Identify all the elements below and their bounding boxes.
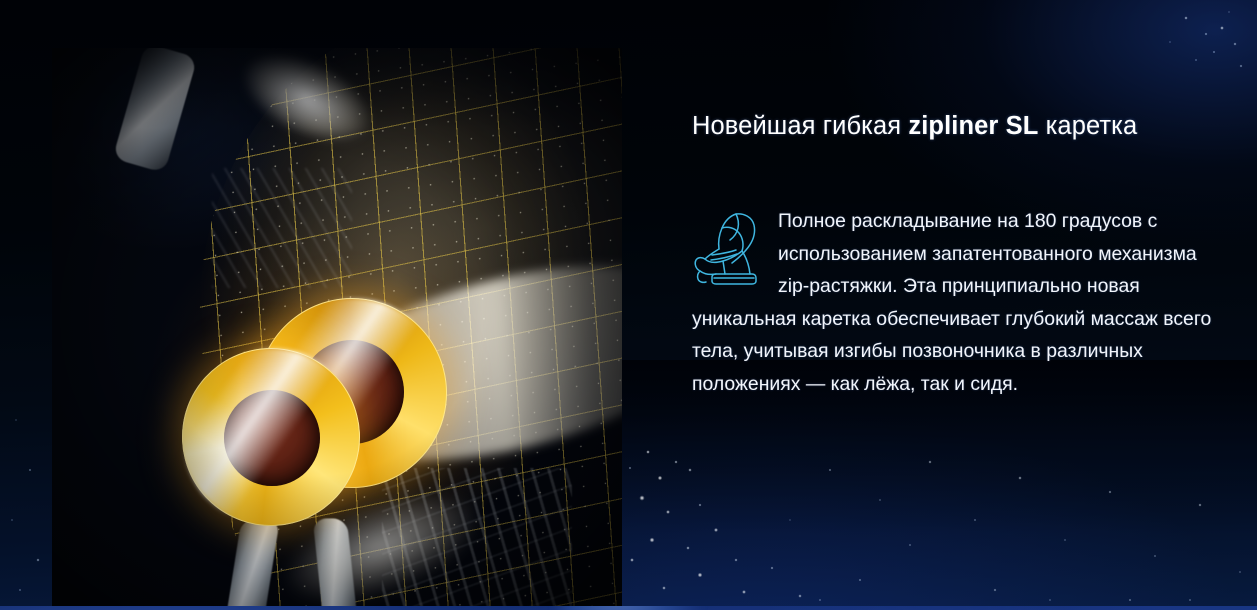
mechanism-detail-upper xyxy=(212,168,352,288)
headline-brand: zipliner SL xyxy=(908,112,1038,140)
headline-prefix: Новейшая гибкая xyxy=(692,112,908,140)
headline-suffix: каретка xyxy=(1038,112,1137,140)
massage-chair-icon xyxy=(692,209,764,287)
product-image xyxy=(52,48,622,606)
feature-description-text: Полное раскладывание на 180 градусов с и… xyxy=(692,205,1230,400)
feature-description-block: Полное раскладывание на 180 градусов с и… xyxy=(692,205,1230,400)
page-title: Новейшая гибкая zipliner SL каретка xyxy=(692,112,1222,141)
text-column: Новейшая гибкая zipliner SL каретка xyxy=(692,0,1232,610)
roller-ring-front-core xyxy=(224,390,320,486)
slide-stage: Новейшая гибкая zipliner SL каретка xyxy=(0,0,1257,610)
